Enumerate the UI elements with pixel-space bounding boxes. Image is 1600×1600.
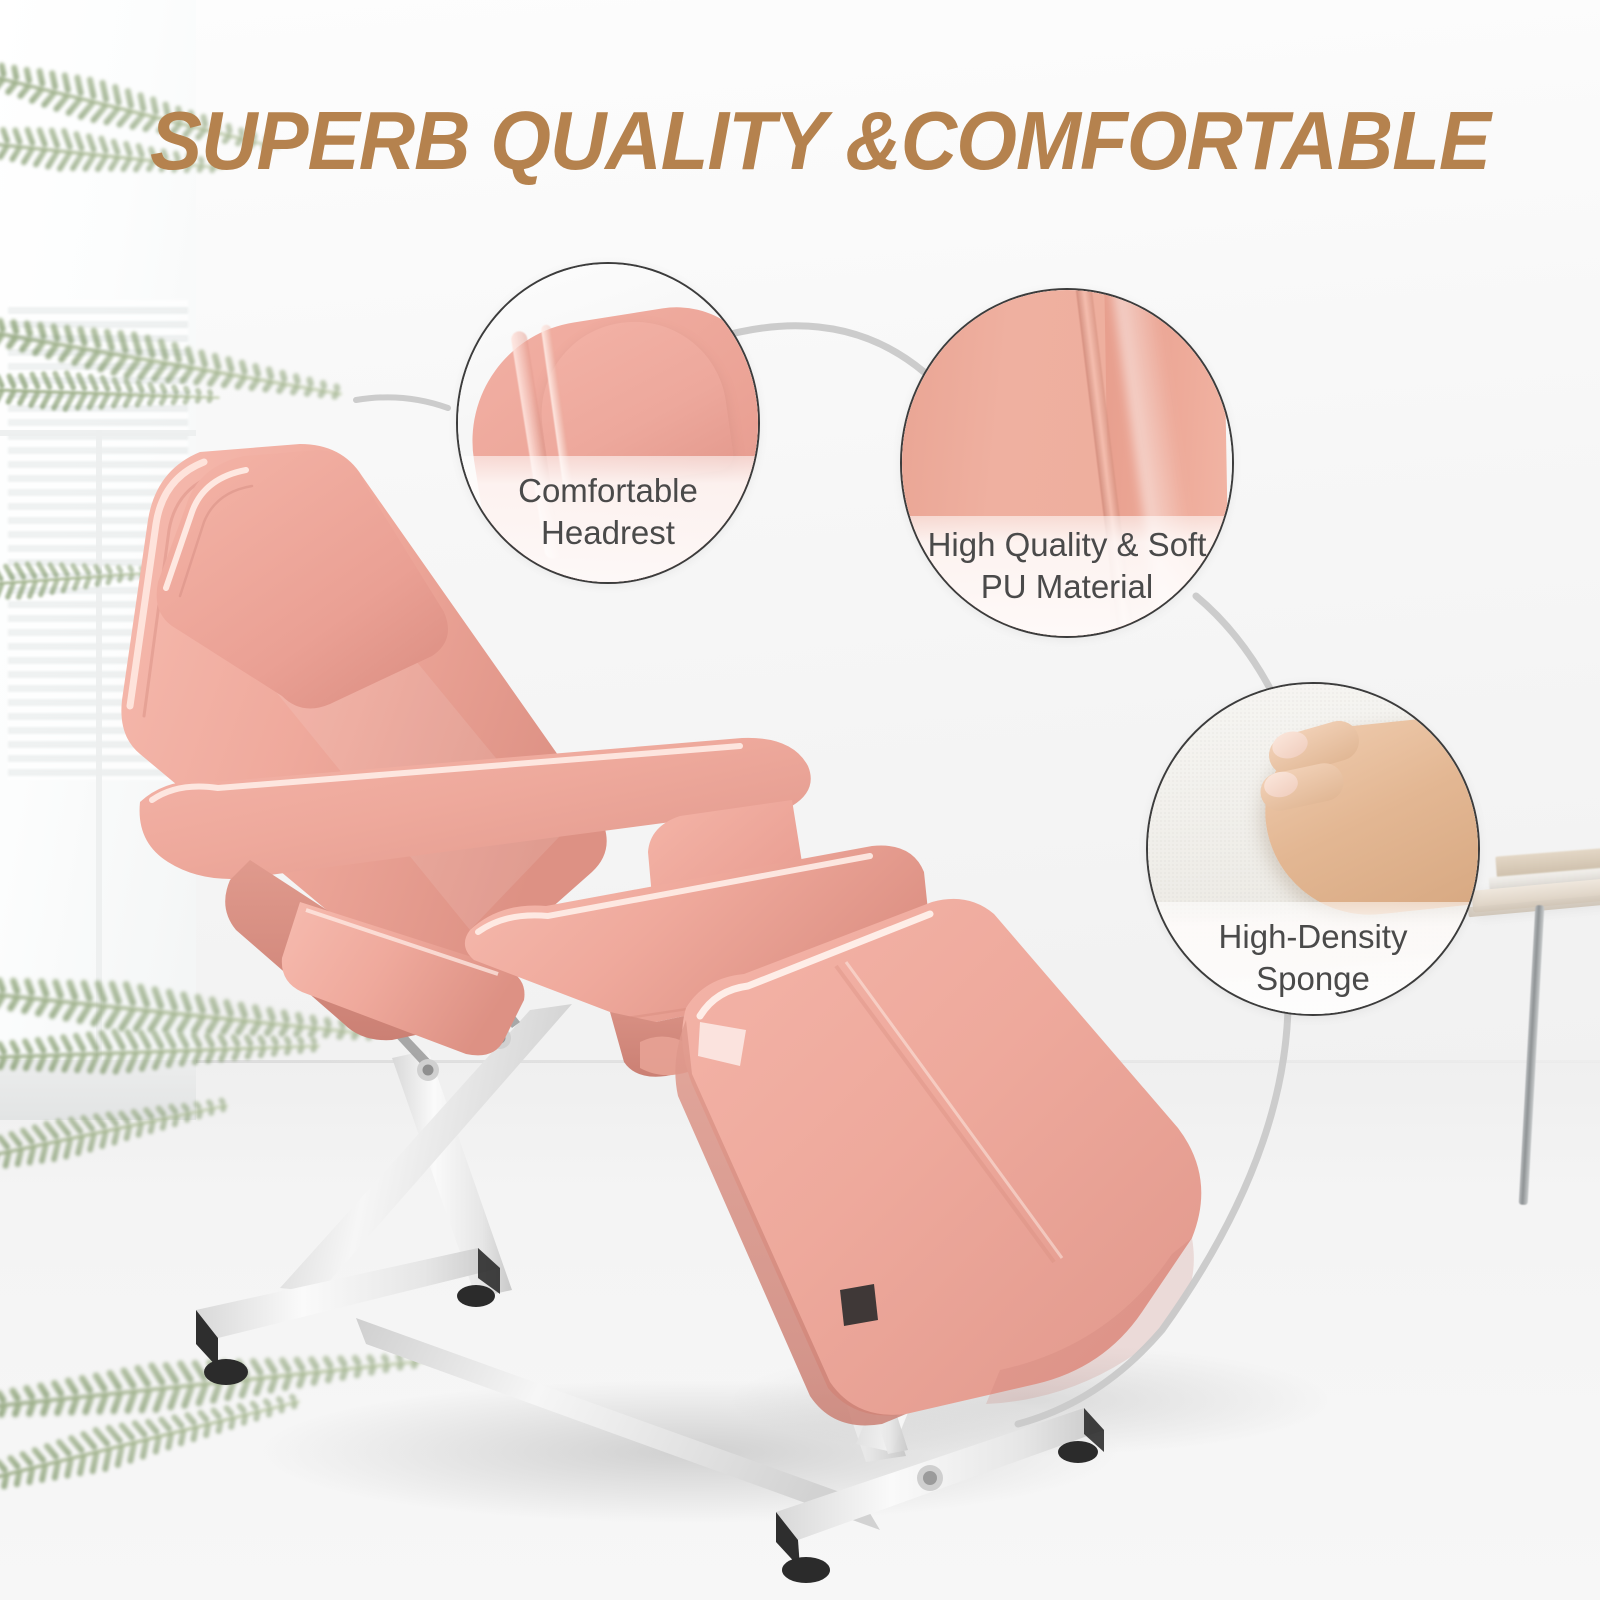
- callout-label-sponge: High-Density Sponge: [1148, 902, 1478, 1014]
- callout-comfortable-headrest[interactable]: Comfortable Headrest: [456, 262, 760, 584]
- callout-pu-line1: High Quality & Soft: [928, 524, 1207, 566]
- callout-high-density-sponge[interactable]: High-Density Sponge: [1146, 682, 1480, 1016]
- callout-label-headrest: Comfortable Headrest: [458, 456, 758, 582]
- callout-label-pu: High Quality & Soft PU Material: [902, 516, 1232, 636]
- callout-sponge-line2: Sponge: [1256, 958, 1370, 1000]
- product-marketing-image: SUPERB QUALITY &COMFORTABLE: [0, 0, 1600, 1600]
- chair-leg-rest: [675, 899, 1201, 1426]
- callout-sponge-line1: High-Density: [1219, 916, 1408, 958]
- callout-headrest-line1: Comfortable: [518, 470, 698, 512]
- callout-pu-material[interactable]: High Quality & Soft PU Material: [900, 288, 1234, 638]
- callout-pu-line2: PU Material: [981, 566, 1153, 608]
- callout-headrest-line2: Headrest: [541, 512, 675, 554]
- leg-rest-bracket: [840, 1284, 878, 1326]
